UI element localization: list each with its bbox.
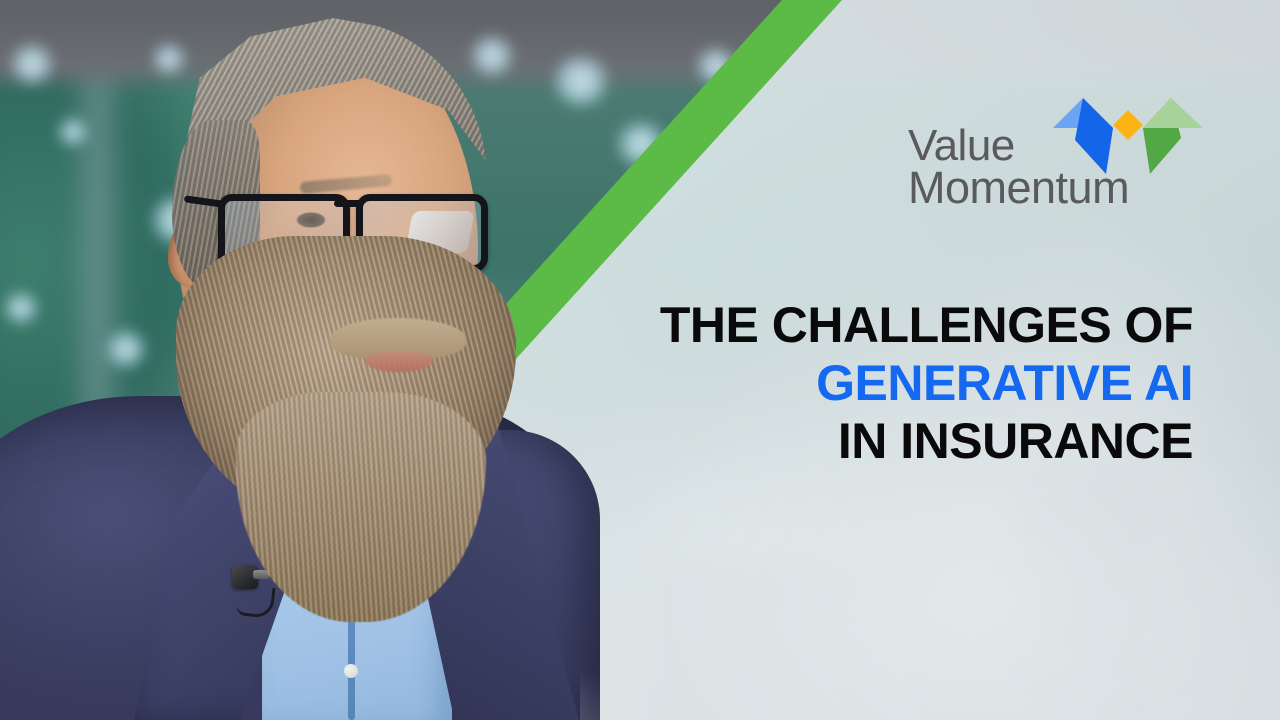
title-line-1: THE CHALLENGES OF — [573, 296, 1193, 354]
lips — [366, 352, 432, 372]
valuemomentum-logo[interactable]: Value Momentum — [908, 92, 1198, 222]
title-line-2: GENERATIVE AI — [573, 354, 1193, 412]
video-title: THE CHALLENGES OF GENERATIVE AI IN INSUR… — [573, 296, 1193, 470]
video-thumbnail-frame: Value Momentum THE CHALLENGES OF GENERAT… — [0, 0, 1280, 720]
title-line-3: IN INSURANCE — [573, 412, 1193, 470]
logo-wordmark-line2: Momentum — [908, 166, 1129, 210]
shirt-button — [344, 664, 358, 678]
speaker-portrait — [0, 0, 620, 720]
